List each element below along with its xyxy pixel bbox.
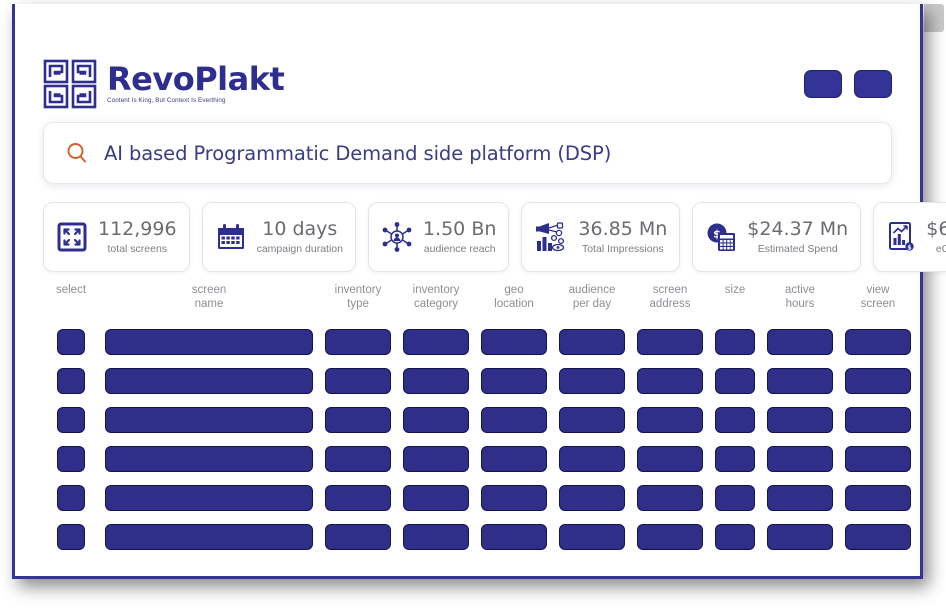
table-cell-invtype: [319, 407, 397, 433]
table-cell-geo: [475, 329, 553, 355]
placeholder-bar: [105, 524, 313, 550]
placeholder-bar: [325, 485, 391, 511]
placeholder-bar: [325, 524, 391, 550]
placeholder-bar: [403, 368, 469, 394]
placeholder-bar: [325, 329, 391, 355]
table-cell-size: [709, 368, 761, 394]
table-cell-invcat: [397, 524, 475, 550]
table-cell-invtype: [319, 329, 397, 355]
placeholder-bar: [845, 407, 911, 433]
brand-name: RevoPlakt: [107, 63, 284, 95]
placeholder-bar: [637, 485, 703, 511]
placeholder-bar: [57, 368, 85, 394]
placeholder-bar: [403, 485, 469, 511]
stat-texts: $661 eCPM: [926, 219, 946, 256]
placeholder-bar: [559, 446, 625, 472]
placeholder-bar: [105, 446, 313, 472]
search-icon: [66, 142, 88, 164]
table-cell-select[interactable]: [43, 407, 99, 433]
table-cell-addr: [631, 446, 709, 472]
table-cell-view[interactable]: [839, 329, 917, 355]
placeholder-bar: [325, 368, 391, 394]
placeholder-bar: [767, 446, 833, 472]
table-cell-aud: [553, 524, 631, 550]
stat-card-total-impressions[interactable]: 36.85 Mn Total Impressions: [521, 202, 680, 272]
placeholder-bar: [559, 329, 625, 355]
table-cell-geo: [475, 524, 553, 550]
header-button-2[interactable]: [854, 70, 892, 98]
table-row[interactable]: [43, 400, 892, 439]
stat-card-ecpm[interactable]: $ $661 eCPM: [873, 202, 946, 272]
placeholder-bar: [767, 407, 833, 433]
placeholder-bar: [559, 485, 625, 511]
table-cell-select[interactable]: [43, 329, 99, 355]
svg-text:$: $: [908, 244, 912, 251]
placeholder-bar: [403, 446, 469, 472]
table-cell-addr: [631, 329, 709, 355]
table-cell-name: [99, 524, 319, 550]
table-cell-view[interactable]: [839, 368, 917, 394]
table-body: [43, 322, 892, 556]
table-cell-view[interactable]: [839, 485, 917, 511]
placeholder-bar: [715, 329, 755, 355]
table-row[interactable]: [43, 322, 892, 361]
table-cell-invcat: [397, 329, 475, 355]
table-cell-invcat: [397, 446, 475, 472]
placeholder-bar: [715, 407, 755, 433]
report-document-icon: $: [886, 221, 916, 253]
placeholder-bar: [715, 485, 755, 511]
table-cell-invtype: [319, 446, 397, 472]
placeholder-bar: [57, 485, 85, 511]
table-cell-size: [709, 329, 761, 355]
stat-label: audience reach: [424, 243, 496, 255]
greek-key-square-logo-icon: [43, 59, 97, 109]
placeholder-bar: [637, 524, 703, 550]
table-row[interactable]: [43, 517, 892, 556]
column-header-select[interactable]: select: [43, 284, 99, 298]
table-cell-geo: [475, 485, 553, 511]
placeholder-bar: [105, 485, 313, 511]
brand-logo[interactable]: RevoPlakt Content Is King, But Context I…: [43, 59, 284, 109]
column-header-view-screen[interactable]: view screen: [839, 284, 917, 312]
audience-network-icon: [381, 221, 413, 253]
table-cell-name: [99, 485, 319, 511]
stat-card-campaign-duration[interactable]: 10 days campaign duration: [202, 202, 356, 272]
table-cell-name: [99, 446, 319, 472]
table-cell-select[interactable]: [43, 485, 99, 511]
calculator-coin-icon: $: [705, 221, 737, 253]
placeholder-bar: [767, 368, 833, 394]
table-cell-name: [99, 407, 319, 433]
browser-window: RevoPlakt Content Is King, But Context I…: [12, 4, 923, 579]
column-header-screen-address[interactable]: screen address: [631, 284, 709, 312]
table-cell-addr: [631, 407, 709, 433]
table-cell-hours: [761, 524, 839, 550]
column-header-active-hours[interactable]: active hours: [761, 284, 839, 312]
stat-texts: 1.50 Bn audience reach: [423, 219, 496, 256]
placeholder-bar: [403, 329, 469, 355]
placeholder-bar: [845, 329, 911, 355]
table-cell-view[interactable]: [839, 407, 917, 433]
placeholder-bar: [845, 524, 911, 550]
stat-value: $24.37 Mn: [747, 219, 848, 240]
table-cell-select[interactable]: [43, 524, 99, 550]
table-cell-addr: [631, 485, 709, 511]
table-cell-addr: [631, 368, 709, 394]
stat-texts: $24.37 Mn Estimated Spend: [747, 219, 848, 256]
table-cell-geo: [475, 446, 553, 472]
table-row[interactable]: [43, 478, 892, 517]
table-cell-geo: [475, 407, 553, 433]
stat-value: 112,996: [98, 219, 177, 240]
placeholder-bar: [325, 407, 391, 433]
stat-label: total screens: [108, 243, 168, 255]
app-header: RevoPlakt Content Is King, But Context I…: [43, 32, 892, 112]
placeholder-bar: [559, 524, 625, 550]
table-row[interactable]: [43, 439, 892, 478]
stat-value: 1.50 Bn: [423, 219, 496, 240]
placeholder-bar: [767, 485, 833, 511]
placeholder-bar: [57, 524, 85, 550]
stat-value: 10 days: [262, 219, 337, 240]
table-row[interactable]: [43, 361, 892, 400]
placeholder-bar: [325, 446, 391, 472]
placeholder-bar: [403, 407, 469, 433]
table-cell-select[interactable]: [43, 368, 99, 394]
placeholder-bar: [105, 368, 313, 394]
placeholder-bar: [105, 407, 313, 433]
stat-card-estimated-spend[interactable]: $ $24.37 Mn: [692, 202, 861, 272]
stat-label: eCPM: [936, 243, 946, 255]
placeholder-bar: [715, 446, 755, 472]
stat-card-audience-reach[interactable]: 1.50 Bn audience reach: [368, 202, 509, 272]
placeholder-bar: [767, 329, 833, 355]
calendar-icon: [215, 221, 247, 253]
stat-card-total-screens[interactable]: 112,996 total screens: [43, 202, 190, 272]
column-header-inventory-category[interactable]: inventory category: [397, 284, 475, 312]
table-cell-invtype: [319, 524, 397, 550]
table-cell-hours: [761, 329, 839, 355]
table-cell-size: [709, 446, 761, 472]
table-cell-view[interactable]: [839, 446, 917, 472]
search-bar[interactable]: AI based Programmatic Demand side platfo…: [43, 122, 892, 184]
megaphone-chart-icon: [534, 221, 568, 253]
table-cell-name: [99, 368, 319, 394]
stat-label: Estimated Spend: [758, 243, 838, 255]
placeholder-bar: [715, 524, 755, 550]
placeholder-bar: [637, 407, 703, 433]
table-cell-addr: [631, 524, 709, 550]
placeholder-bar: [481, 329, 547, 355]
table-cell-aud: [553, 368, 631, 394]
placeholder-bar: [481, 446, 547, 472]
placeholder-bar: [481, 485, 547, 511]
placeholder-bar: [845, 485, 911, 511]
table-header-row: select screen name inventory type invent…: [43, 284, 892, 318]
table-cell-invcat: [397, 485, 475, 511]
table-cell-invcat: [397, 368, 475, 394]
page-content: RevoPlakt Content Is King, But Context I…: [15, 32, 920, 576]
table-cell-size: [709, 485, 761, 511]
placeholder-bar: [559, 368, 625, 394]
table-cell-aud: [553, 485, 631, 511]
stat-texts: 10 days campaign duration: [257, 219, 343, 256]
placeholder-bar: [559, 407, 625, 433]
table-cell-invtype: [319, 368, 397, 394]
header-button-1[interactable]: [804, 70, 842, 98]
column-header-screen-name[interactable]: screen name: [99, 284, 319, 312]
placeholder-bar: [481, 368, 547, 394]
stat-label: Total Impressions: [582, 243, 664, 255]
placeholder-bar: [105, 329, 313, 355]
brand-tagline: Content Is King, But Context Is Everthin…: [107, 98, 284, 104]
stat-value: $661: [926, 219, 946, 240]
table-cell-hours: [761, 485, 839, 511]
placeholder-bar: [57, 407, 85, 433]
placeholder-bar: [715, 368, 755, 394]
table-cell-view[interactable]: [839, 524, 917, 550]
stat-texts: 112,996 total screens: [98, 219, 177, 256]
brand-text: RevoPlakt Content Is King, But Context I…: [107, 63, 284, 104]
placeholder-bar: [637, 329, 703, 355]
placeholder-bar: [57, 329, 85, 355]
header-actions: [804, 70, 892, 98]
table-cell-aud: [553, 407, 631, 433]
column-header-inventory-type[interactable]: inventory type: [319, 284, 397, 312]
column-header-size[interactable]: size: [709, 284, 761, 298]
table-cell-aud: [553, 446, 631, 472]
column-header-geo-location[interactable]: geo location: [475, 284, 553, 312]
placeholder-bar: [637, 446, 703, 472]
column-header-audience-per-day[interactable]: audience per day: [553, 284, 631, 312]
placeholder-bar: [845, 368, 911, 394]
stats-row: 112,996 total screens: [43, 202, 892, 272]
stat-value: 36.85 Mn: [578, 219, 667, 240]
window-tab-stub: [924, 4, 944, 32]
stat-label: campaign duration: [257, 243, 343, 255]
placeholder-bar: [637, 368, 703, 394]
table-cell-invcat: [397, 407, 475, 433]
app-root: RevoPlakt Content Is King, But Context I…: [0, 0, 946, 611]
placeholder-bar: [481, 524, 547, 550]
expand-screens-icon: [56, 221, 88, 253]
table-cell-size: [709, 407, 761, 433]
table-cell-size: [709, 524, 761, 550]
placeholder-bar: [403, 524, 469, 550]
table-cell-invtype: [319, 485, 397, 511]
placeholder-bar: [767, 524, 833, 550]
search-input[interactable]: AI based Programmatic Demand side platfo…: [104, 142, 611, 165]
placeholder-bar: [57, 446, 85, 472]
table-cell-hours: [761, 446, 839, 472]
table-cell-name: [99, 329, 319, 355]
table-cell-hours: [761, 407, 839, 433]
screens-table: select screen name inventory type invent…: [43, 284, 892, 556]
placeholder-bar: [845, 446, 911, 472]
placeholder-bar: [481, 407, 547, 433]
table-cell-geo: [475, 368, 553, 394]
table-cell-select[interactable]: [43, 446, 99, 472]
stat-texts: 36.85 Mn Total Impressions: [578, 219, 667, 256]
table-cell-hours: [761, 368, 839, 394]
table-cell-aud: [553, 329, 631, 355]
